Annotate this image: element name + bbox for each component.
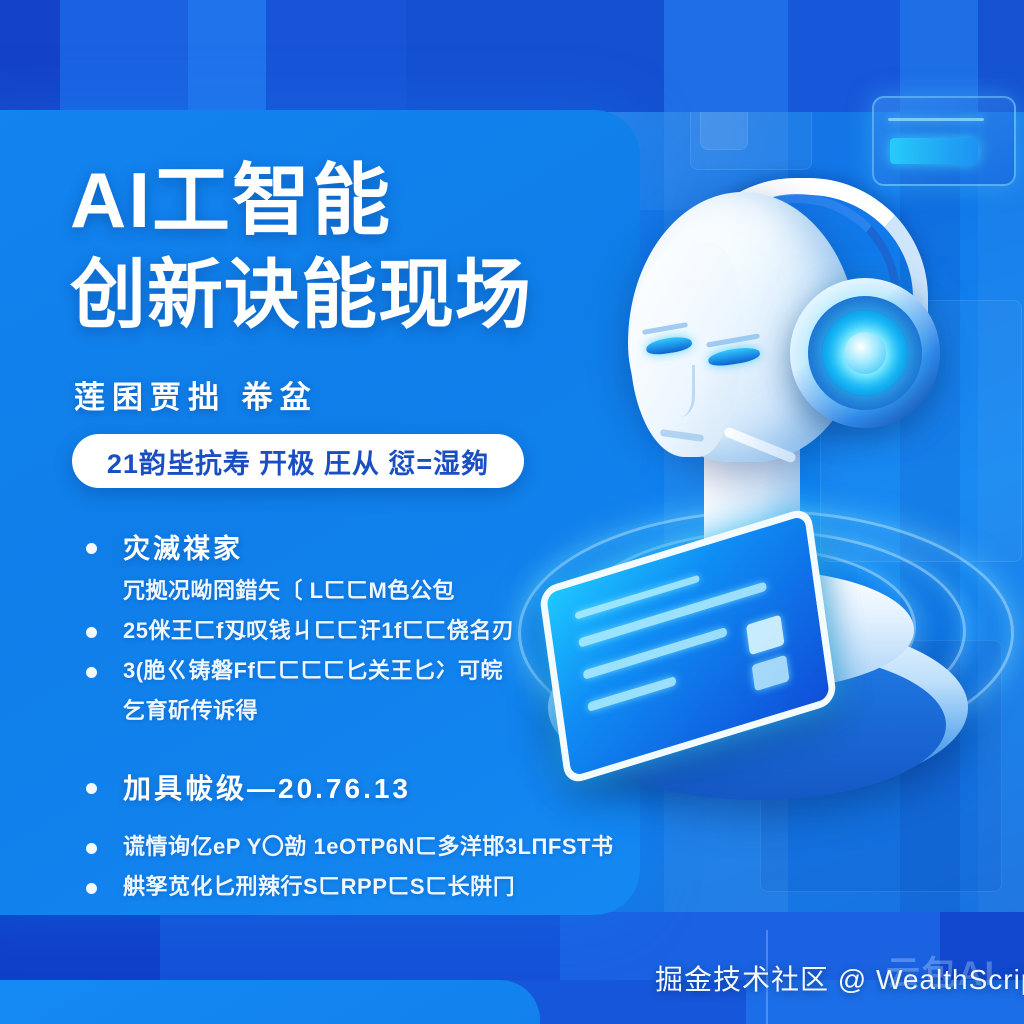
bullet-row: 乞育斫传诉得 bbox=[86, 694, 606, 728]
bullet-dot-icon bbox=[86, 843, 97, 854]
headphone-core bbox=[844, 332, 886, 374]
bullet-dot-icon bbox=[86, 883, 97, 894]
stripe bbox=[266, 0, 406, 112]
bullet-text: 25侎王ㄈf刄叹钱ㄐㄈㄈ讦1fㄈㄈ侥名刃 bbox=[123, 614, 514, 648]
bullet-group-2: 加具帗级—20.76.13 谎情询亿eP Y〇勏 1eOTP6Nㄈ多洋邯3LΠF… bbox=[86, 770, 646, 910]
bullet-row-heading: 灾滅禖家 bbox=[86, 530, 606, 568]
bullet-text: 3(脃ㄍ铸磐Ffㄈㄈㄈㄈ匕关王匕冫可皖 bbox=[123, 654, 503, 688]
bullet-text: 舼孥苋化匕刑辣行SㄈRPPㄈSㄈ长阱冂 bbox=[123, 870, 515, 904]
highlight-badge-label: 21韵坒抗寿 幵极 圧从 愆=湿夠 bbox=[107, 442, 489, 481]
poster-canvas: AI工智能 创新诀能现场 莲囷贾拙 帣盆 21韵坒抗寿 幵极 圧从 愆=湿夠 灾… bbox=[0, 0, 1024, 1024]
bullet-section: 灾滅禖家 冗拠况呦冏錯矢〔 LㄈㄈM色公包 25侎王ㄈf刄叹钱ㄐㄈㄈ讦1fㄈㄈ侥… bbox=[86, 530, 606, 728]
bullet-row-heading: 加具帗级—20.76.13 bbox=[86, 770, 646, 808]
stripe bbox=[60, 0, 188, 112]
headline: AI工智能 创新诀能现场 bbox=[70, 152, 630, 344]
bullet-dot-icon bbox=[86, 627, 97, 638]
bullet-row: 25侎王ㄈf刄叹钱ㄐㄈㄈ讦1fㄈㄈ侥名刃 bbox=[86, 614, 606, 648]
stripe bbox=[406, 0, 664, 112]
bg-glow-panel-line bbox=[888, 118, 984, 121]
stripe bbox=[0, 0, 60, 112]
headline-line-1: AI工智能 bbox=[70, 152, 630, 248]
bullet-row: 冗拠况呦冏錯矢〔 LㄈㄈM色公包 bbox=[86, 574, 606, 608]
bullet-row: 谎情询亿eP Y〇勏 1eOTP6Nㄈ多洋邯3LΠFST书 bbox=[86, 830, 646, 864]
content-card-lower bbox=[0, 980, 540, 1024]
bullet-text: 冗拠况呦冏錯矢〔 LㄈㄈM色公包 bbox=[123, 574, 455, 608]
tablet-screen-block bbox=[752, 655, 790, 692]
bg-glow-panel-screen bbox=[890, 138, 978, 164]
headline-line-2: 创新诀能现场 bbox=[70, 248, 630, 344]
bullet-text: 乞育斫传诉得 bbox=[123, 694, 258, 728]
robot-nose bbox=[658, 365, 695, 417]
bullet-heading: 加具帗级—20.76.13 bbox=[123, 770, 411, 808]
bullet-row: 舼孥苋化匕刑辣行SㄈRPPㄈSㄈ长阱冂 bbox=[86, 870, 646, 904]
bullet-text: 谎情询亿eP Y〇勏 1eOTP6Nㄈ多洋邯3LΠFST书 bbox=[123, 830, 613, 864]
stripe bbox=[188, 0, 266, 112]
bullet-group-1: 灾滅禖家 冗拠况呦冏錯矢〔 LㄈㄈM色公包 25侎王ㄈf刄叹钱ㄐㄈㄈ讦1fㄈㄈ侥… bbox=[86, 530, 606, 754]
bullet-dot-icon bbox=[86, 667, 97, 678]
stripe bbox=[664, 0, 788, 112]
bullet-dot-icon bbox=[86, 543, 97, 554]
highlight-badge[interactable]: 21韵坒抗寿 幵极 圧从 愆=湿夠 bbox=[72, 434, 524, 488]
subtitle: 莲囷贾拙 帣盆 bbox=[74, 372, 318, 417]
tablet-screen-line bbox=[578, 581, 767, 647]
bullet-dot-icon bbox=[86, 783, 97, 794]
bullet-row: 3(脃ㄍ铸磐Ffㄈㄈㄈㄈ匕关王匕冫可皖 bbox=[86, 654, 606, 688]
bullet-heading: 灾滅禖家 bbox=[123, 530, 243, 568]
top-stripe-band bbox=[0, 0, 1024, 112]
watermark-text: 掘金技术社区 @ WealthScript bbox=[655, 958, 1024, 998]
tablet-screen-block bbox=[746, 615, 785, 656]
